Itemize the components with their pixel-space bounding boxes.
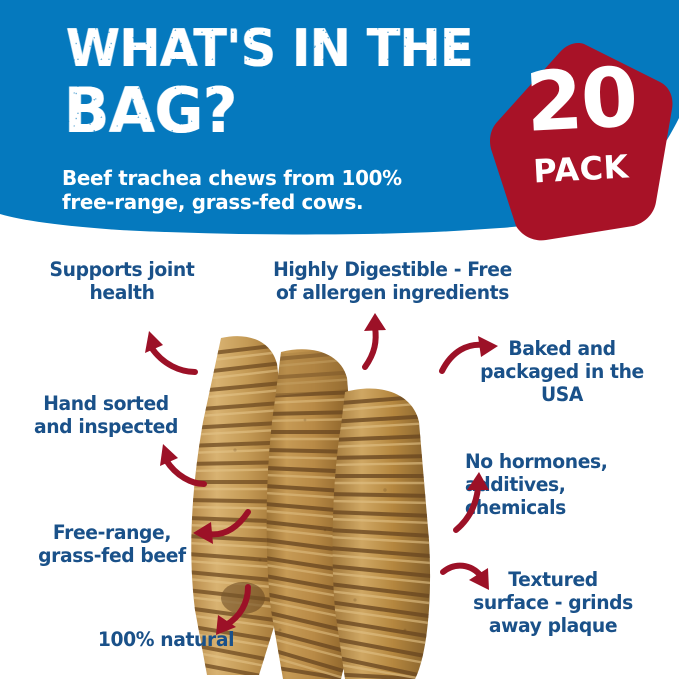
feature-line: health: [18, 281, 225, 304]
feature-line: Free-range,: [18, 521, 206, 544]
feature-line: and inspected: [10, 415, 202, 438]
feature-line: Hand sorted: [10, 392, 202, 415]
feature-line: USA: [456, 383, 667, 406]
feature-line: grass-fed beef: [18, 544, 206, 567]
feature-label-free-range-beef: Free-range, grass-fed beef: [18, 521, 206, 567]
curved-arrow-right-icon: [440, 333, 502, 377]
pack-badge: [488, 42, 674, 242]
curved-arrow-down-left-icon: [198, 583, 254, 639]
feature-label-hand-sorted: Hand sorted and inspected: [10, 392, 202, 438]
curved-arrow-up-right-icon: [150, 440, 212, 488]
feature-line: away plaque: [442, 614, 665, 637]
chew-piece-right: [329, 389, 433, 679]
feature-label-joint-health: Supports joint health: [18, 258, 225, 304]
curved-arrow-down-right-icon: [441, 558, 501, 600]
curved-arrow-up-left-icon: [133, 325, 203, 377]
feature-line: Highly Digestible - Free: [241, 258, 543, 281]
feature-label-highly-digestible: Highly Digestible - Free of allergen ing…: [241, 258, 543, 304]
feature-line: of allergen ingredients: [241, 281, 543, 304]
badge-hexagon-shape: [490, 43, 673, 240]
feature-line: Supports joint: [18, 258, 225, 281]
curved-arrow-left-icon: [190, 508, 252, 550]
infographic-page: WHAT'S IN THE BAG? Beef trachea chews fr…: [0, 0, 679, 679]
curved-arrow-up-icon: [452, 470, 500, 532]
curved-arrow-up-icon: [355, 313, 401, 369]
